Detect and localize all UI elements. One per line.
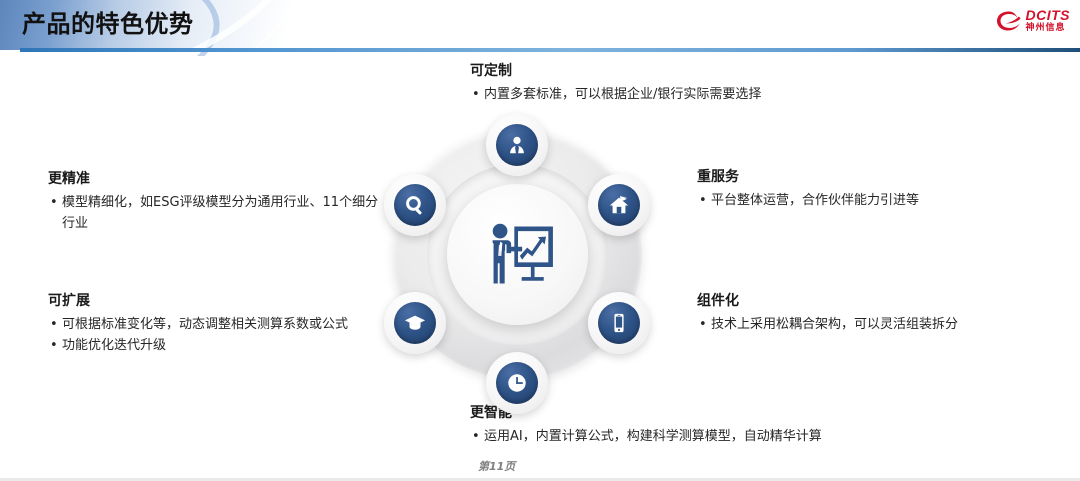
list-item: 模型精细化，如ESG评级模型分为通用行业、11个细分行业 xyxy=(48,192,383,234)
header-divider xyxy=(20,48,1080,52)
feature-bullet-list: 内置多套标准，可以根据企业/银行实际需要选择 xyxy=(470,84,890,105)
dcits-swirl-icon xyxy=(996,10,1022,32)
hub-node-education[interactable] xyxy=(384,292,446,354)
logo-text-cn: 神州信息 xyxy=(1026,24,1071,33)
node-disc xyxy=(496,124,538,166)
list-item: 内置多套标准，可以根据企业/银行实际需要选择 xyxy=(470,84,890,105)
node-disc xyxy=(394,184,436,226)
feature-block-extensible: 可扩展 可根据标准变化等，动态调整相关测算系数或公式 功能优化迭代升级 xyxy=(48,290,383,356)
hub-node-home[interactable] xyxy=(588,174,650,236)
feature-bullet-list: 技术上采用松耦合架构，可以灵活组装拆分 xyxy=(697,314,1027,335)
logo-text: DCITS 神州信息 xyxy=(1026,8,1071,33)
feature-block-component: 组件化 技术上采用松耦合架构，可以灵活组装拆分 xyxy=(697,290,1027,335)
list-item: 可根据标准变化等，动态调整相关测算系数或公式 xyxy=(48,314,383,335)
hub-node-clock[interactable] xyxy=(486,352,548,414)
education-icon xyxy=(404,312,426,334)
feature-bullet-list: 平台整体运营，合作伙伴能力引进等 xyxy=(697,190,1027,211)
page-number: 第11页 xyxy=(478,458,515,474)
node-disc xyxy=(496,362,538,404)
feature-bullet-list: 可根据标准变化等，动态调整相关测算系数或公式 功能优化迭代升级 xyxy=(48,314,383,356)
hub-node-search[interactable] xyxy=(384,174,446,236)
feature-block-customizable: 可定制 内置多套标准，可以根据企业/银行实际需要选择 xyxy=(470,60,890,105)
feature-title: 可扩展 xyxy=(48,290,383,310)
feature-title: 重服务 xyxy=(697,166,1027,186)
feature-title: 更智能 xyxy=(470,402,940,422)
list-item: 技术上采用松耦合架构，可以灵活组装拆分 xyxy=(697,314,1027,335)
page-title: 产品的特色优势 xyxy=(22,7,194,41)
mobile-icon xyxy=(608,312,630,334)
central-hub-diagram xyxy=(375,112,660,397)
list-item: 功能优化迭代升级 xyxy=(48,335,383,356)
node-disc xyxy=(598,302,640,344)
feature-block-service: 重服务 平台整体运营，合作伙伴能力引进等 xyxy=(697,166,1027,211)
logo-text-en: DCITS xyxy=(1026,8,1071,22)
feature-bullet-list: 运用AI，内置计算公式，构建科学测算模型，自动精华计算 xyxy=(470,426,940,447)
list-item: 运用AI，内置计算公式，构建科学测算模型，自动精华计算 xyxy=(470,426,940,447)
node-disc xyxy=(394,302,436,344)
hub-center-node xyxy=(447,184,588,325)
node-disc xyxy=(598,184,640,226)
feature-block-intelligent: 更智能 运用AI，内置计算公式，构建科学测算模型，自动精华计算 xyxy=(470,402,940,447)
feature-title: 可定制 xyxy=(470,60,890,80)
brand-logo: DCITS 神州信息 xyxy=(996,8,1071,33)
search-icon xyxy=(404,194,426,216)
list-item: 平台整体运营，合作伙伴能力引进等 xyxy=(697,190,1027,211)
feature-title: 更精准 xyxy=(48,168,383,188)
feature-bullet-list: 模型精细化，如ESG评级模型分为通用行业、11个细分行业 xyxy=(48,192,383,234)
presenter-chart-icon xyxy=(481,221,555,289)
feature-title: 组件化 xyxy=(697,290,1027,310)
home-icon xyxy=(608,194,630,216)
hub-node-mobile[interactable] xyxy=(588,292,650,354)
slide-header: 产品的特色优势 DCITS 神州信息 xyxy=(0,0,1080,56)
slide: 产品的特色优势 DCITS 神州信息 可定制 内置多套标准，可以根据企业/银行实… xyxy=(0,0,1080,481)
feature-block-accurate: 更精准 模型精细化，如ESG评级模型分为通用行业、11个细分行业 xyxy=(48,168,383,234)
hub-node-user[interactable] xyxy=(486,114,548,176)
clock-icon xyxy=(506,372,528,394)
user-icon xyxy=(506,134,528,156)
